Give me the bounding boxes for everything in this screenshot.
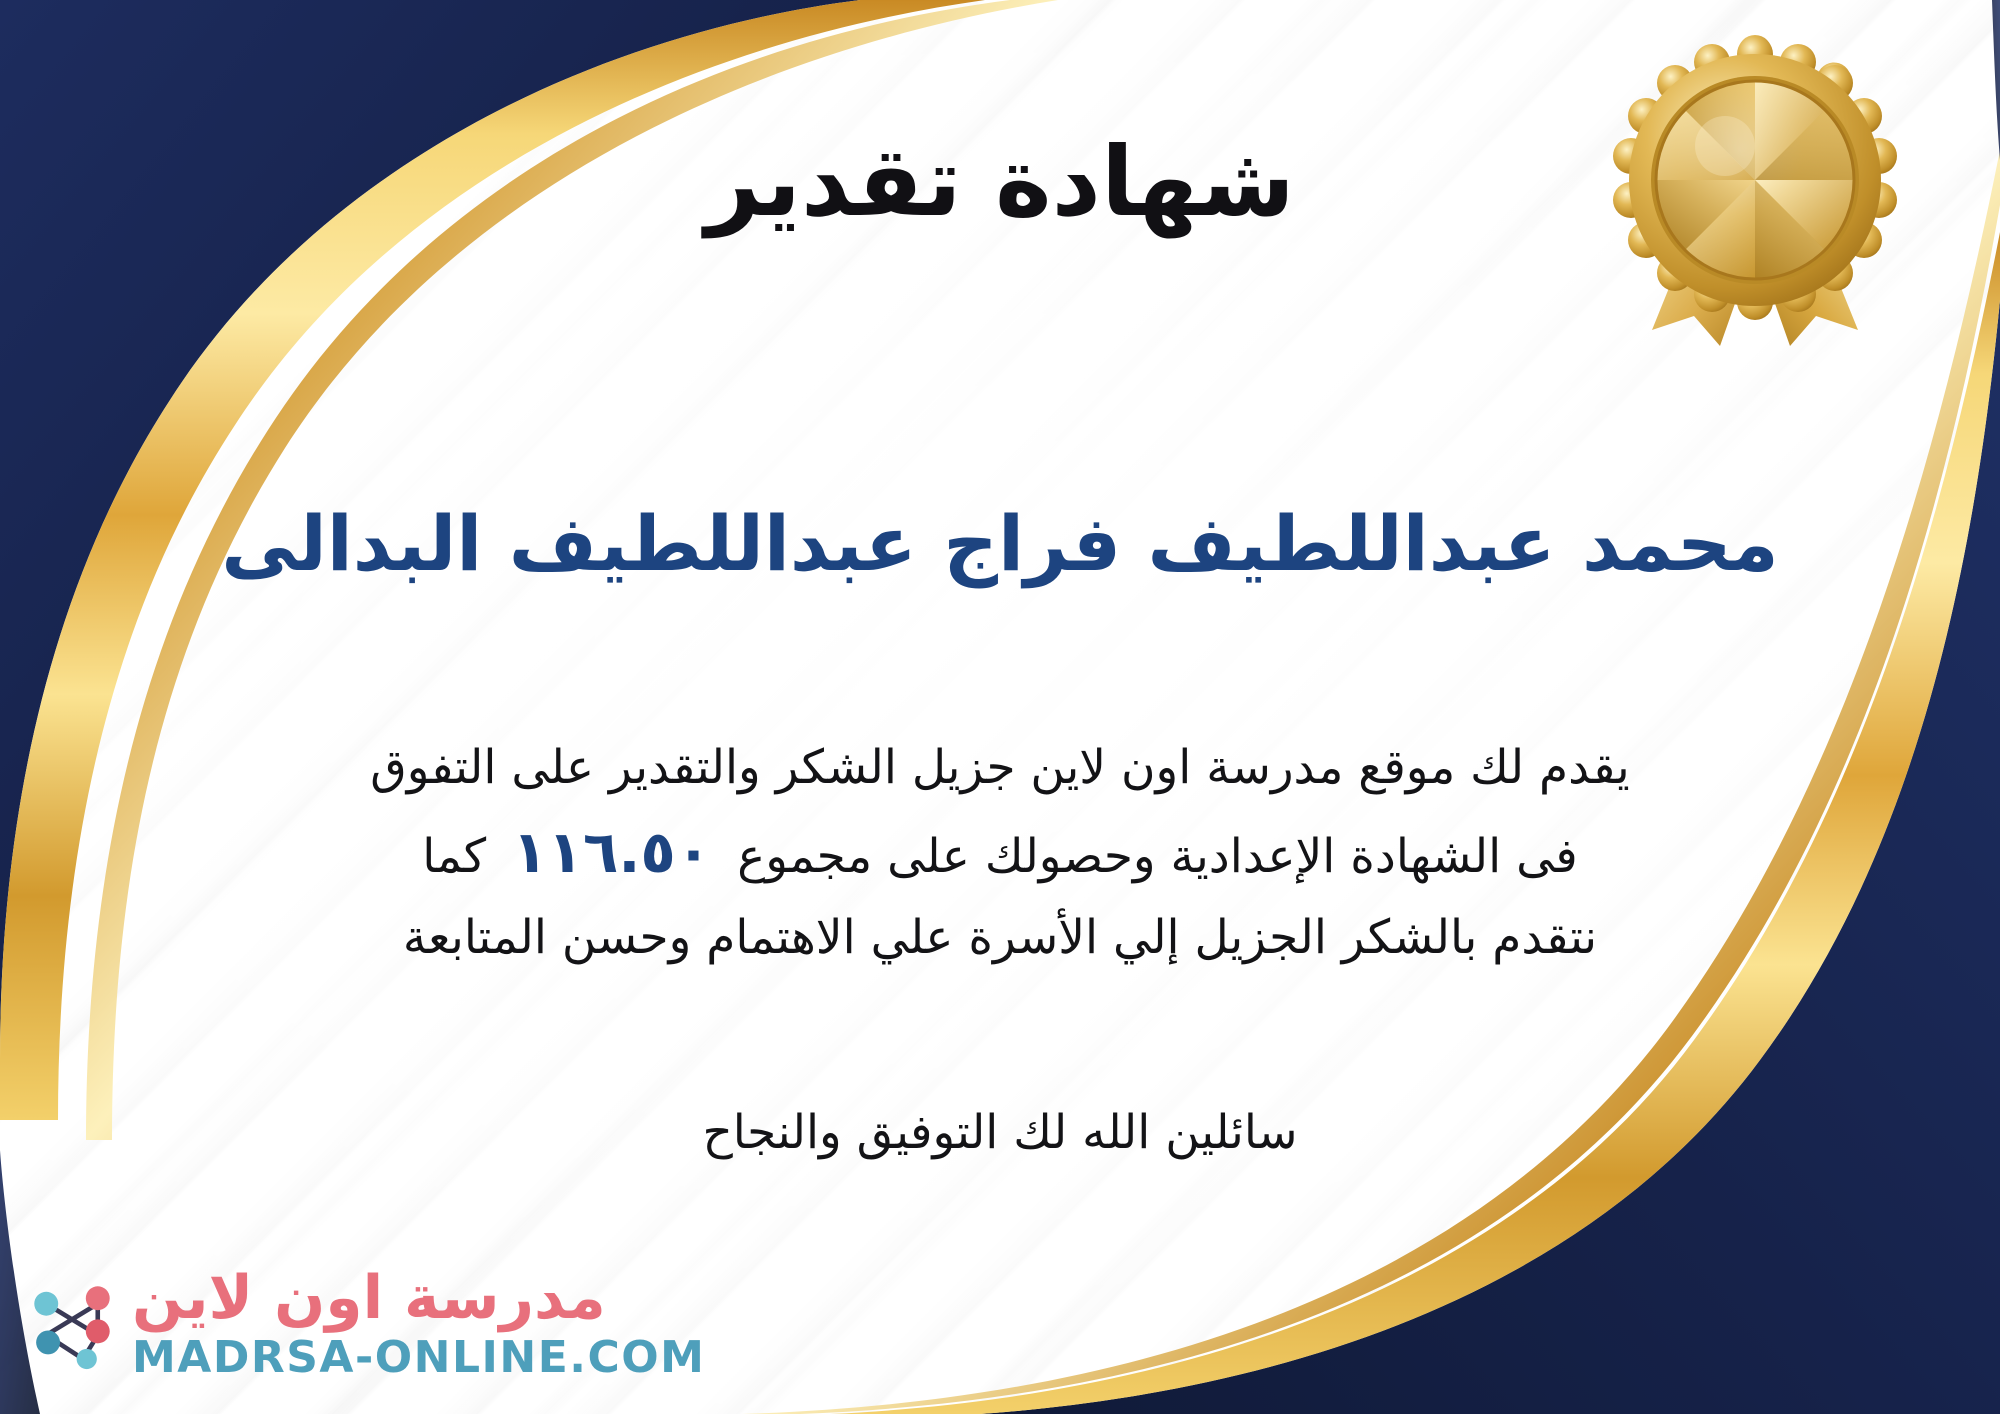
body-line-2-prefix: فى الشهادة الإعدادية وحصولك على مجموع — [737, 829, 1578, 884]
network-nodes-icon — [26, 1278, 118, 1370]
body-text-block: يقدم لك موقع مدرسة اون لاين جزيل الشكر و… — [150, 730, 1850, 976]
body-line-2-suffix: كما — [422, 829, 486, 884]
certificate-canvas: شهادة تقدير محمد عبداللطيف فراج عبداللطي… — [0, 0, 2000, 1414]
body-line-1: يقدم لك موقع مدرسة اون لاين جزيل الشكر و… — [150, 730, 1850, 806]
certificate-content: شهادة تقدير محمد عبداللطيف فراج عبداللطي… — [0, 0, 2000, 1414]
body-line-2: فى الشهادة الإعدادية وحصولك على مجموع١١٦… — [150, 806, 1850, 900]
brand-logo[interactable]: مدرسة اون لاين MADRSA-ONLINE.COM — [26, 1268, 705, 1380]
body-line-3: نتقدم بالشكر الجزيل إلي الأسرة علي الاهت… — [150, 900, 1850, 976]
brand-website-url: MADRSA-ONLINE.COM — [132, 1336, 705, 1380]
closing-line: سائلين الله لك التوفيق والنجاح — [150, 1105, 1850, 1160]
brand-arabic-name: مدرسة اون لاين — [132, 1268, 606, 1328]
recipient-name: محمد عبداللطيف فراج عبداللطيف البدالى — [40, 500, 1960, 587]
page-title: شهادة تقدير — [0, 132, 2000, 233]
score-value: ١١٦.٥٠ — [486, 818, 737, 886]
brand-text-group: مدرسة اون لاين MADRSA-ONLINE.COM — [132, 1268, 705, 1380]
